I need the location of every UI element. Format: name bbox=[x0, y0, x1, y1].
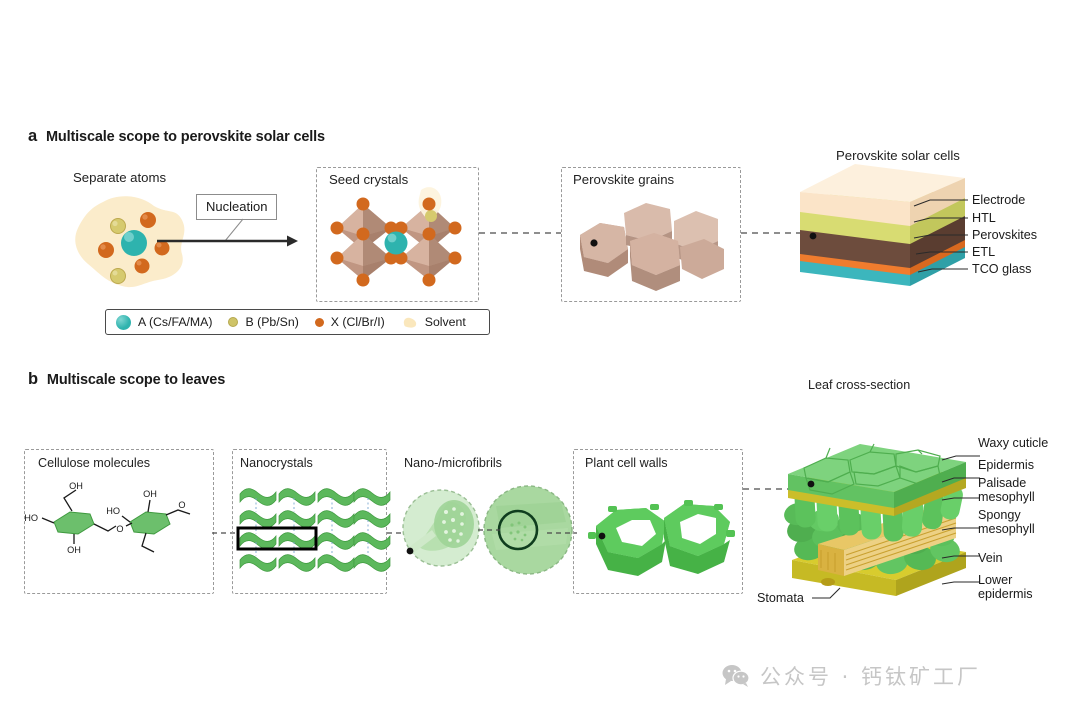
leader-lower-epidermis bbox=[942, 582, 980, 584]
bond-ch3-right bbox=[142, 533, 154, 552]
leader-htl bbox=[914, 218, 968, 222]
leaf-label-spongy-mesophyll: Spongy mesophyll bbox=[978, 508, 1064, 536]
halide-12 bbox=[449, 252, 462, 265]
legend-swatch-x-anion bbox=[315, 318, 324, 327]
caption-cellulose-molecules: Cellulose molecules bbox=[38, 456, 150, 470]
caption-plant-cell-walls: Plant cell walls bbox=[585, 456, 668, 470]
leaf-label-waxy-cuticle: Waxy cuticle bbox=[978, 436, 1048, 450]
caption-perovskite-grains: Perovskite grains bbox=[573, 172, 674, 187]
cell-wall-honeycomb bbox=[588, 500, 735, 576]
pyranose-ring-left bbox=[54, 512, 94, 534]
atom-x-4-highlight bbox=[137, 261, 142, 266]
atom-b-1-highlight bbox=[112, 221, 117, 226]
caption-nanocrystals: Nanocrystals bbox=[240, 456, 313, 470]
chem-label-ho-2: HO bbox=[106, 506, 120, 516]
atom-x-1-highlight bbox=[142, 214, 147, 219]
watermark: 公众号 · 钙钛矿工厂 bbox=[722, 661, 981, 691]
a-cation-center bbox=[385, 232, 408, 255]
leader-vein bbox=[942, 556, 980, 558]
device-label-etl: ETL bbox=[972, 245, 995, 259]
solvent-swatch-shape bbox=[404, 317, 416, 327]
chem-label-ho-1: HO bbox=[24, 513, 38, 523]
leader-spongy bbox=[942, 528, 980, 530]
leaf-label-stomata: Stomata bbox=[757, 591, 804, 605]
leaf-anchor-dot bbox=[808, 481, 815, 488]
leader-etl bbox=[916, 252, 968, 254]
leaf-label-epidermis: Epidermis bbox=[978, 458, 1034, 472]
pyranose-ring-right bbox=[130, 512, 170, 534]
wechat-eye-1 bbox=[728, 670, 731, 673]
legend-label-b-cation: B (Pb/Sn) bbox=[245, 315, 298, 329]
halide-5 bbox=[449, 222, 462, 235]
atom-b-2-highlight bbox=[113, 271, 118, 276]
chem-label-o-glycosidic: O bbox=[116, 524, 123, 534]
leader-electrode bbox=[914, 200, 968, 206]
legend-label-a-cation: A (Cs/FA/MA) bbox=[138, 315, 212, 329]
stomata-leader-line bbox=[812, 582, 844, 606]
atom-a-center bbox=[121, 230, 147, 256]
device-anchor-dot bbox=[810, 233, 817, 240]
grain-hexagons bbox=[580, 203, 724, 291]
leaf-label-lower-epidermis: Lower epidermis bbox=[978, 573, 1064, 601]
callout-tail bbox=[225, 219, 243, 241]
grain-anchor-dot bbox=[590, 239, 597, 246]
atom-x-1 bbox=[140, 212, 156, 228]
legend-item-a-cation: A (Cs/FA/MA) bbox=[116, 315, 212, 330]
legend-swatch-a-cation bbox=[116, 315, 131, 330]
watermark-text: 公众号 · 钙钛矿工厂 bbox=[760, 661, 981, 691]
leader-stomata bbox=[812, 588, 840, 598]
leader-palisade bbox=[942, 498, 980, 500]
device-label-electrode: Electrode bbox=[972, 193, 1025, 207]
legend-item-solvent: Solvent bbox=[401, 315, 466, 329]
connector-seed-to-grains bbox=[479, 228, 561, 238]
leader-perovskites bbox=[914, 235, 968, 238]
caption-leaf-cross-section: Leaf cross-section bbox=[808, 378, 910, 392]
chem-label-oh-3: OH bbox=[143, 489, 157, 499]
device-leader-lines bbox=[910, 188, 972, 280]
wechat-eye-2 bbox=[734, 670, 737, 673]
wechat-icon bbox=[722, 664, 750, 688]
seed-crystals-illustration bbox=[325, 186, 475, 298]
cellwall-anchor-dot bbox=[599, 533, 606, 540]
leaf-label-vein: Vein bbox=[978, 551, 1003, 565]
cellulose-molecule-illustration: OH HO OH HO OH O O bbox=[32, 478, 212, 558]
halide-9 bbox=[331, 252, 344, 265]
bond-ch2oh-left bbox=[64, 490, 76, 511]
panel-b-header: b Multiscale scope to leaves bbox=[28, 370, 225, 389]
leaf-label-palisade-mesophyll: Palisade mesophyll bbox=[978, 476, 1064, 504]
atom-b-1 bbox=[111, 219, 126, 234]
panel-a-legend: A (Cs/FA/MA) B (Pb/Sn) X (Cl/Br/I) Solve… bbox=[105, 309, 490, 335]
device-label-perovskites: Perovskites bbox=[972, 228, 1037, 242]
legend-label-solvent: Solvent bbox=[425, 315, 466, 329]
legend-swatch-solvent bbox=[401, 316, 418, 329]
atom-b-seed bbox=[425, 210, 437, 222]
nano-microfibrils-illustration bbox=[396, 478, 571, 590]
halide-2 bbox=[331, 222, 344, 235]
device-label-htl: HTL bbox=[972, 211, 996, 225]
arrow-head bbox=[287, 236, 298, 247]
legend-item-x-anion: X (Cl/Br/I) bbox=[315, 315, 385, 329]
atom-x-2 bbox=[98, 242, 114, 258]
caption-separate-atoms: Separate atoms bbox=[73, 170, 166, 185]
chem-label-o-terminal: O bbox=[178, 500, 185, 510]
halide-13 bbox=[357, 274, 370, 287]
device-label-tco-glass: TCO glass bbox=[972, 262, 1031, 276]
halide-14 bbox=[423, 274, 436, 287]
a-cation-highlight bbox=[388, 234, 397, 243]
panel-a-letter: a bbox=[28, 127, 37, 146]
atom-a-highlight bbox=[124, 232, 134, 242]
panel-a-header: a Multiscale scope to perovskite solar c… bbox=[28, 127, 325, 146]
leaf-leader-lines bbox=[940, 432, 982, 610]
nucleation-arrow bbox=[155, 216, 300, 246]
panel-b-title: Multiscale scope to leaves bbox=[47, 372, 225, 388]
wechat-eye-3 bbox=[737, 675, 739, 677]
atom-b-2 bbox=[111, 269, 126, 284]
leader-waxy-cuticle bbox=[942, 456, 980, 460]
halide-7 bbox=[357, 228, 370, 241]
legend-swatch-b-cation bbox=[228, 317, 238, 327]
halide-8 bbox=[423, 228, 436, 241]
atom-x-2-highlight bbox=[100, 244, 105, 249]
wechat-bubble-small bbox=[733, 671, 749, 685]
fibril-anchor-dot bbox=[407, 548, 414, 555]
panel-b-letter: b bbox=[28, 370, 38, 389]
caption-perovskite-solar-cells: Perovskite solar cells bbox=[836, 148, 960, 163]
panel-a-title: Multiscale scope to perovskite solar cel… bbox=[46, 129, 325, 145]
halide-4 bbox=[423, 198, 436, 211]
leader-tco bbox=[918, 269, 968, 272]
leader-epidermis bbox=[942, 478, 980, 482]
wechat-eye-4 bbox=[742, 675, 744, 677]
bond-glycosidic-left bbox=[94, 524, 116, 531]
bond-oh-right-up bbox=[148, 500, 150, 512]
atom-x-4 bbox=[135, 259, 150, 274]
legend-label-x-anion: X (Cl/Br/I) bbox=[331, 315, 385, 329]
caption-nano-microfibrils: Nano-/microfibrils bbox=[404, 456, 502, 470]
halide-1 bbox=[357, 198, 370, 211]
perovskite-grains-illustration bbox=[566, 195, 738, 295]
chem-label-oh-2: OH bbox=[67, 545, 81, 555]
bond-o-right bbox=[166, 510, 190, 515]
bond-ho-left bbox=[42, 518, 54, 523]
nanocrystals-illustration bbox=[236, 484, 386, 579]
plant-cell-walls-illustration bbox=[580, 488, 740, 583]
bond-ho-right bbox=[122, 516, 130, 522]
chem-label-oh-1: OH bbox=[69, 481, 83, 491]
legend-item-b-cation: B (Pb/Sn) bbox=[228, 315, 298, 329]
figure-canvas: a Multiscale scope to perovskite solar c… bbox=[0, 0, 1080, 720]
caption-seed-crystals: Seed crystals bbox=[329, 172, 408, 187]
